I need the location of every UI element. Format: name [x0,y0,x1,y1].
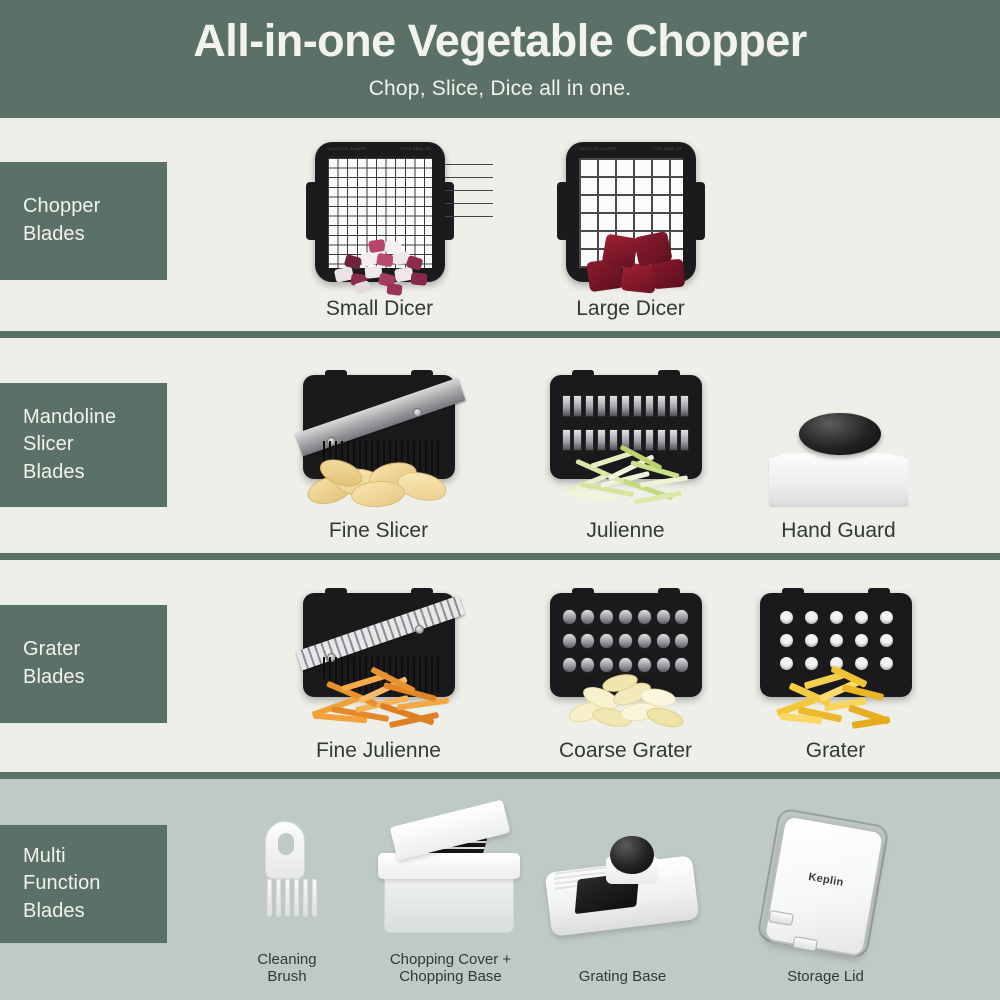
product-caption: Large Dicer [576,297,685,322]
category-label: Mandoline Slicer Blades [23,404,116,487]
product-item-grater: Grater [758,586,913,764]
page-subtitle: Chop, Slice, Dice all in one. [369,77,632,101]
product-caption: Storage Lid [787,968,864,986]
julienne-image [550,375,702,507]
diced-onion-pile [327,238,443,290]
category-chip-chopper-blades: Chopper Blades [0,162,167,280]
fine-slicer-image [303,375,455,507]
row-divider [0,553,1000,560]
product-caption: Small Dicer [326,297,433,322]
product-caption: Grating Base [579,968,667,986]
grated-cheese-pile [774,671,902,727]
product-caption: Fine Slicer [329,519,428,544]
product-item-large-dicer: CAUTION SHARP THIS SIDE UP Large Dicer [553,142,708,322]
product-item-coarse-grater: Coarse Grater [548,586,703,764]
caution-text-right: THIS SIDE UP [400,146,431,151]
header-banner: All-in-one Vegetable Chopper Chop, Slice… [0,0,1000,118]
product-caption: Coarse Grater [559,739,692,764]
carrot-shreds-pile [309,675,453,727]
storage-lid-image: Keplin [763,816,889,964]
potato-slices-pile [305,455,455,507]
category-chip-grater-blades: Grater Blades [0,605,167,723]
cleaning-brush-image [257,821,317,921]
small-dicer-image: CAUTION SHARP THIS SIDE UP [315,142,445,283]
product-infographic: All-in-one Vegetable Chopper Chop, Slice… [0,0,1000,1000]
row-divider [0,772,1000,779]
potato-shavings-pile [566,675,690,727]
product-item-grating-base: Grating Base [545,800,700,986]
page-title: All-in-one Vegetable Chopper [193,17,807,64]
product-item-small-dicer: CAUTION SHARP THIS SIDE UP [302,142,457,322]
product-caption: Grater [806,739,866,764]
beet-cubes-pile [582,234,690,290]
category-chip-mandoline-slicer-blades: Mandoline Slicer Blades [0,383,167,507]
product-item-fine-slicer: Fine Slicer [301,366,456,544]
caution-text-left: CAUTION SHARP [579,146,617,151]
caution-text-right: THIS SIDE UP [651,146,682,151]
blade-wires-icon [445,160,493,218]
caution-text-left: CAUTION SHARP [328,146,366,151]
product-item-fine-julienne: Fine Julienne [301,586,456,764]
grating-base-image [548,830,698,942]
product-item-julienne: Julienne [548,366,703,544]
product-item-chopping-cover-base: Chopping Cover + Chopping Base [368,796,533,986]
product-caption: Fine Julienne [316,739,441,764]
grater-image [760,593,912,727]
product-item-hand-guard: Hand Guard [766,366,911,544]
product-item-storage-lid: Keplin Storage Lid [748,796,903,986]
product-caption: Julienne [586,519,664,544]
row-divider [0,331,1000,338]
category-chip-multi-function-blades: Multi Function Blades [0,825,167,943]
category-label: Grater Blades [23,636,85,691]
product-caption: Hand Guard [781,519,895,544]
chopping-cover-base-image [378,815,523,937]
coarse-grater-image [550,593,702,727]
category-label: Chopper Blades [23,193,100,248]
product-item-cleaning-brush: Cleaning Brush [228,806,346,986]
fine-julienne-image [303,593,455,727]
hand-guard-image [769,375,909,507]
zucchini-julienne-pile [560,453,700,507]
product-caption: Chopping Cover + Chopping Base [390,951,511,986]
category-label: Multi Function Blades [23,843,101,926]
product-caption: Cleaning Brush [257,951,316,986]
large-dicer-image: CAUTION SHARP THIS SIDE UP [566,142,696,283]
